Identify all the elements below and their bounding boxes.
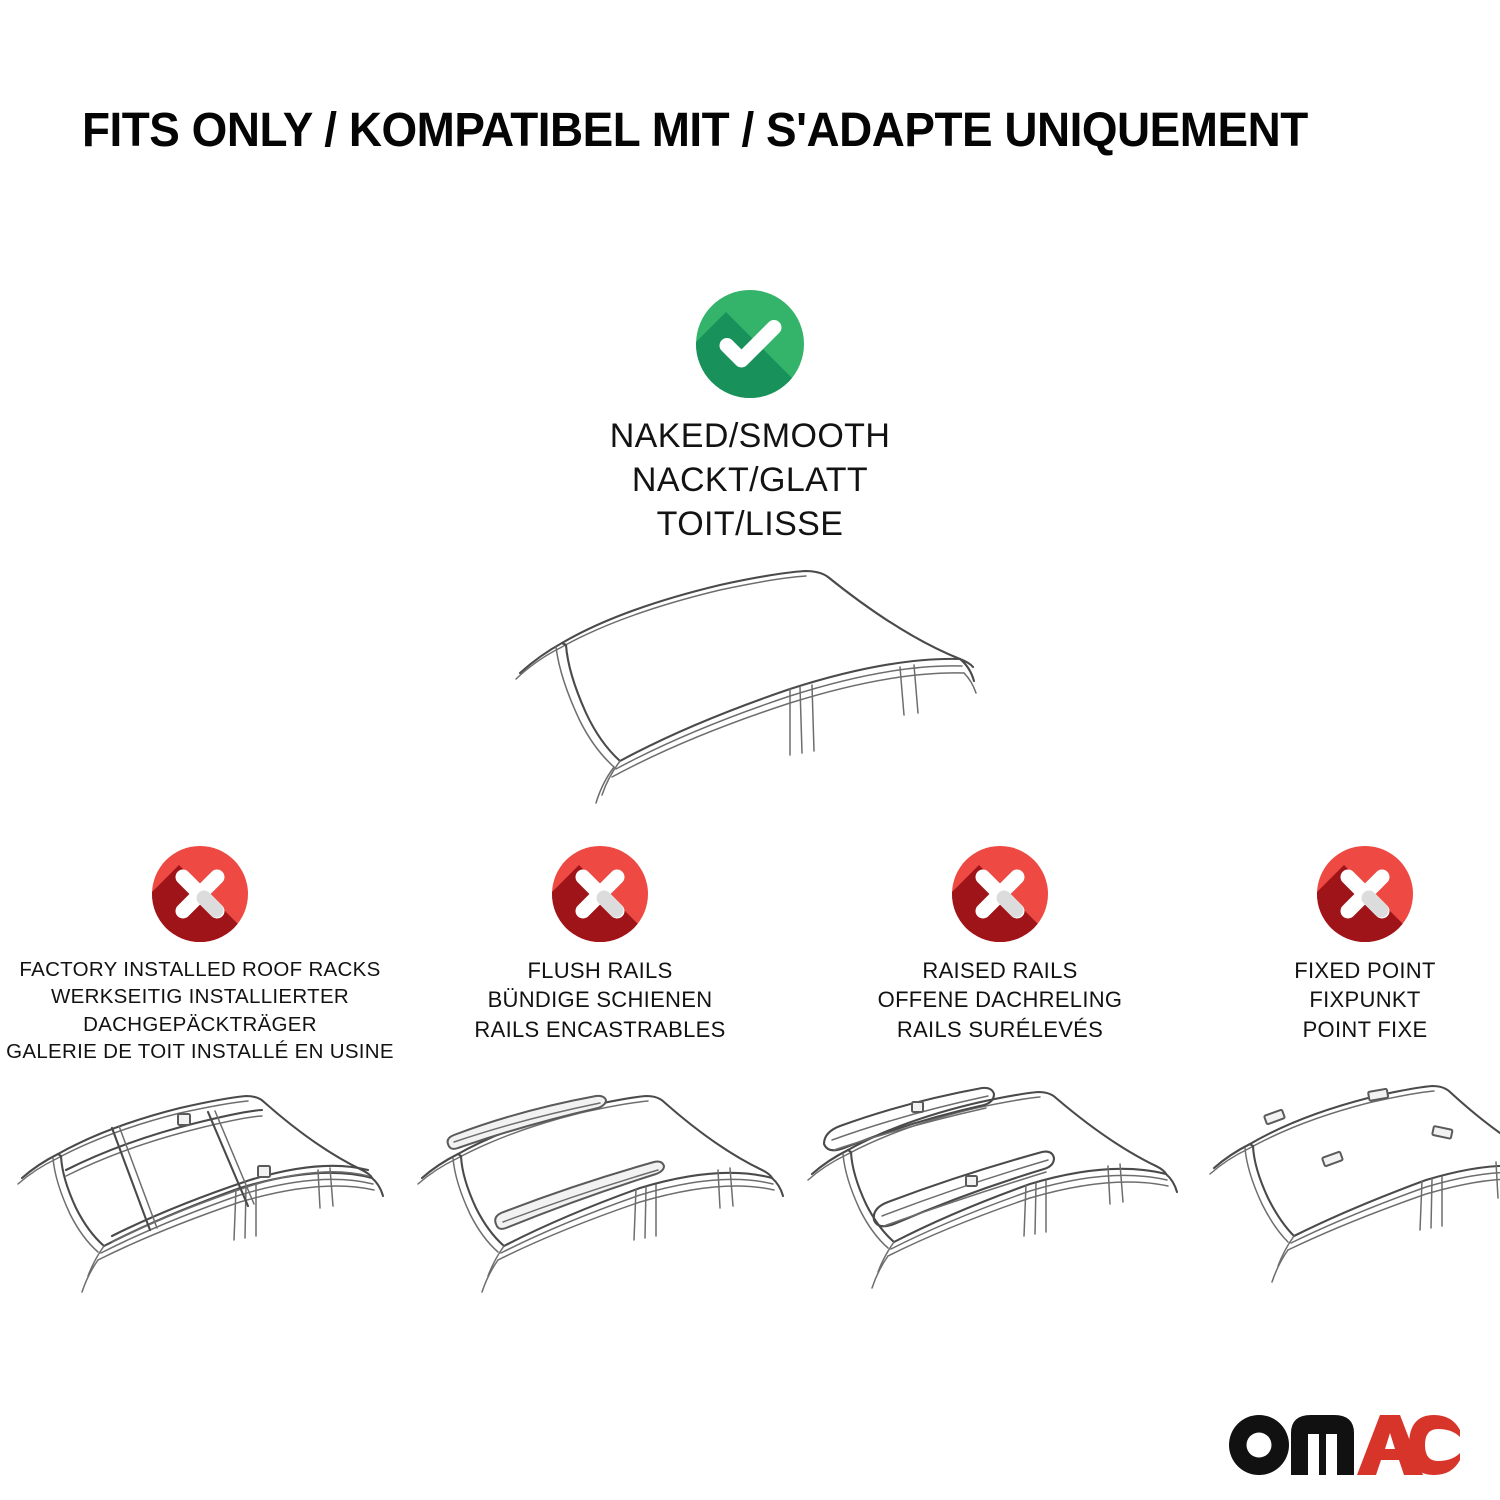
logo-letter-c — [1409, 1415, 1460, 1475]
car-roof-fixed-point-illustration — [1200, 1078, 1500, 1308]
incompatible-item-factory-installed-roof-racks: FACTORY INSTALLED ROOF RACKS WERKSEITIG … — [0, 846, 400, 1308]
incompatible-item-fixed-point: FIXED POINT FIXPUNKT POINT FIXE — [1200, 846, 1500, 1308]
item-caption: FLUSH RAILS BÜNDIGE SCHIENEN RAILS ENCAS… — [474, 956, 725, 1076]
logo-letter-o — [1229, 1415, 1289, 1475]
check-badge — [696, 290, 804, 398]
caption-line: FIXPUNKT — [1294, 985, 1435, 1014]
caption-line: RAILS ENCASTRABLES — [474, 1015, 725, 1044]
cross-badge — [152, 846, 248, 942]
caption-line: OFFENE DACHRELING — [878, 985, 1123, 1014]
cross-icon — [152, 846, 248, 942]
caption-line: POINT FIXE — [1294, 1015, 1435, 1044]
cross-icon — [1317, 846, 1413, 942]
caption-line: BÜNDIGE SCHIENEN — [474, 985, 725, 1014]
caption-line: RAISED RAILS — [878, 956, 1123, 985]
caption-line: FACTORY INSTALLED ROOF RACKS — [6, 956, 394, 983]
caption-line: DACHGEPÄCKTRÄGER — [6, 1011, 394, 1038]
caption-line: WERKSEITIG INSTALLIERTER — [6, 983, 394, 1010]
incompatible-item-raised-rails: RAISED RAILS OFFENE DACHRELING RAILS SUR… — [800, 846, 1200, 1308]
item-caption: FIXED POINT FIXPUNKT POINT FIXE — [1294, 956, 1435, 1076]
incompatible-section: FACTORY INSTALLED ROOF RACKS WERKSEITIG … — [0, 846, 1500, 1308]
page-title: FITS ONLY / KOMPATIBEL MIT / S'ADAPTE UN… — [82, 106, 1362, 156]
car-roof-naked-smooth-illustration — [490, 563, 1010, 828]
caption-line: GALERIE DE TOIT INSTALLÉ EN USINE — [6, 1038, 394, 1065]
cross-icon — [552, 846, 648, 942]
caption-line: FLUSH RAILS — [474, 956, 725, 985]
car-roof-raised-rails-illustration — [800, 1078, 1200, 1308]
incompatible-item-flush-rails: FLUSH RAILS BÜNDIGE SCHIENEN RAILS ENCAS… — [400, 846, 800, 1308]
item-caption: FACTORY INSTALLED ROOF RACKS WERKSEITIG … — [6, 956, 394, 1076]
caption-line: TOIT/LISSE — [610, 502, 891, 546]
cross-badge — [952, 846, 1048, 942]
cross-badge — [552, 846, 648, 942]
item-caption: RAISED RAILS OFFENE DACHRELING RAILS SUR… — [878, 956, 1123, 1076]
check-icon — [696, 290, 804, 398]
omac-logo — [1228, 1412, 1460, 1478]
caption-line: RAILS SURÉLEVÉS — [878, 1015, 1123, 1044]
car-roof-flush-rails-illustration — [400, 1078, 800, 1308]
caption-line: NACKT/GLATT — [610, 458, 891, 502]
compatible-section: NAKED/SMOOTH NACKT/GLATT TOIT/LISSE — [0, 290, 1500, 828]
logo-letter-m — [1291, 1415, 1354, 1475]
caption-line: FIXED POINT — [1294, 956, 1435, 985]
cross-icon — [952, 846, 1048, 942]
cross-badge — [1317, 846, 1413, 942]
compatible-caption: NAKED/SMOOTH NACKT/GLATT TOIT/LISSE — [610, 414, 891, 547]
caption-line: NAKED/SMOOTH — [610, 414, 891, 458]
car-roof-factory-rack-illustration — [0, 1078, 400, 1308]
